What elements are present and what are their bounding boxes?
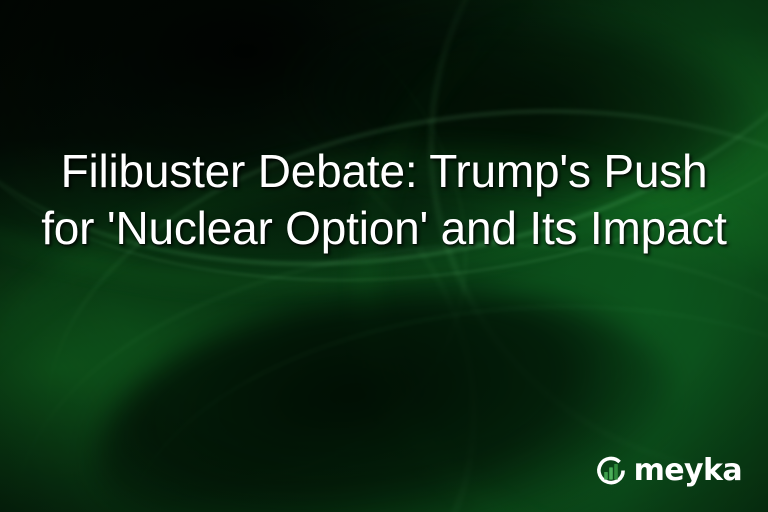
meyka-bar-chart-ring-icon [594, 454, 628, 488]
brand-logo: meyka [594, 454, 742, 488]
banner-card: Filibuster Debate: Trump's Push for 'Nuc… [0, 0, 768, 512]
wave-ribbon-4 [21, 67, 768, 512]
brand-wordmark: meyka [634, 456, 742, 486]
page-title: Filibuster Debate: Trump's Push for 'Nuc… [0, 143, 768, 257]
